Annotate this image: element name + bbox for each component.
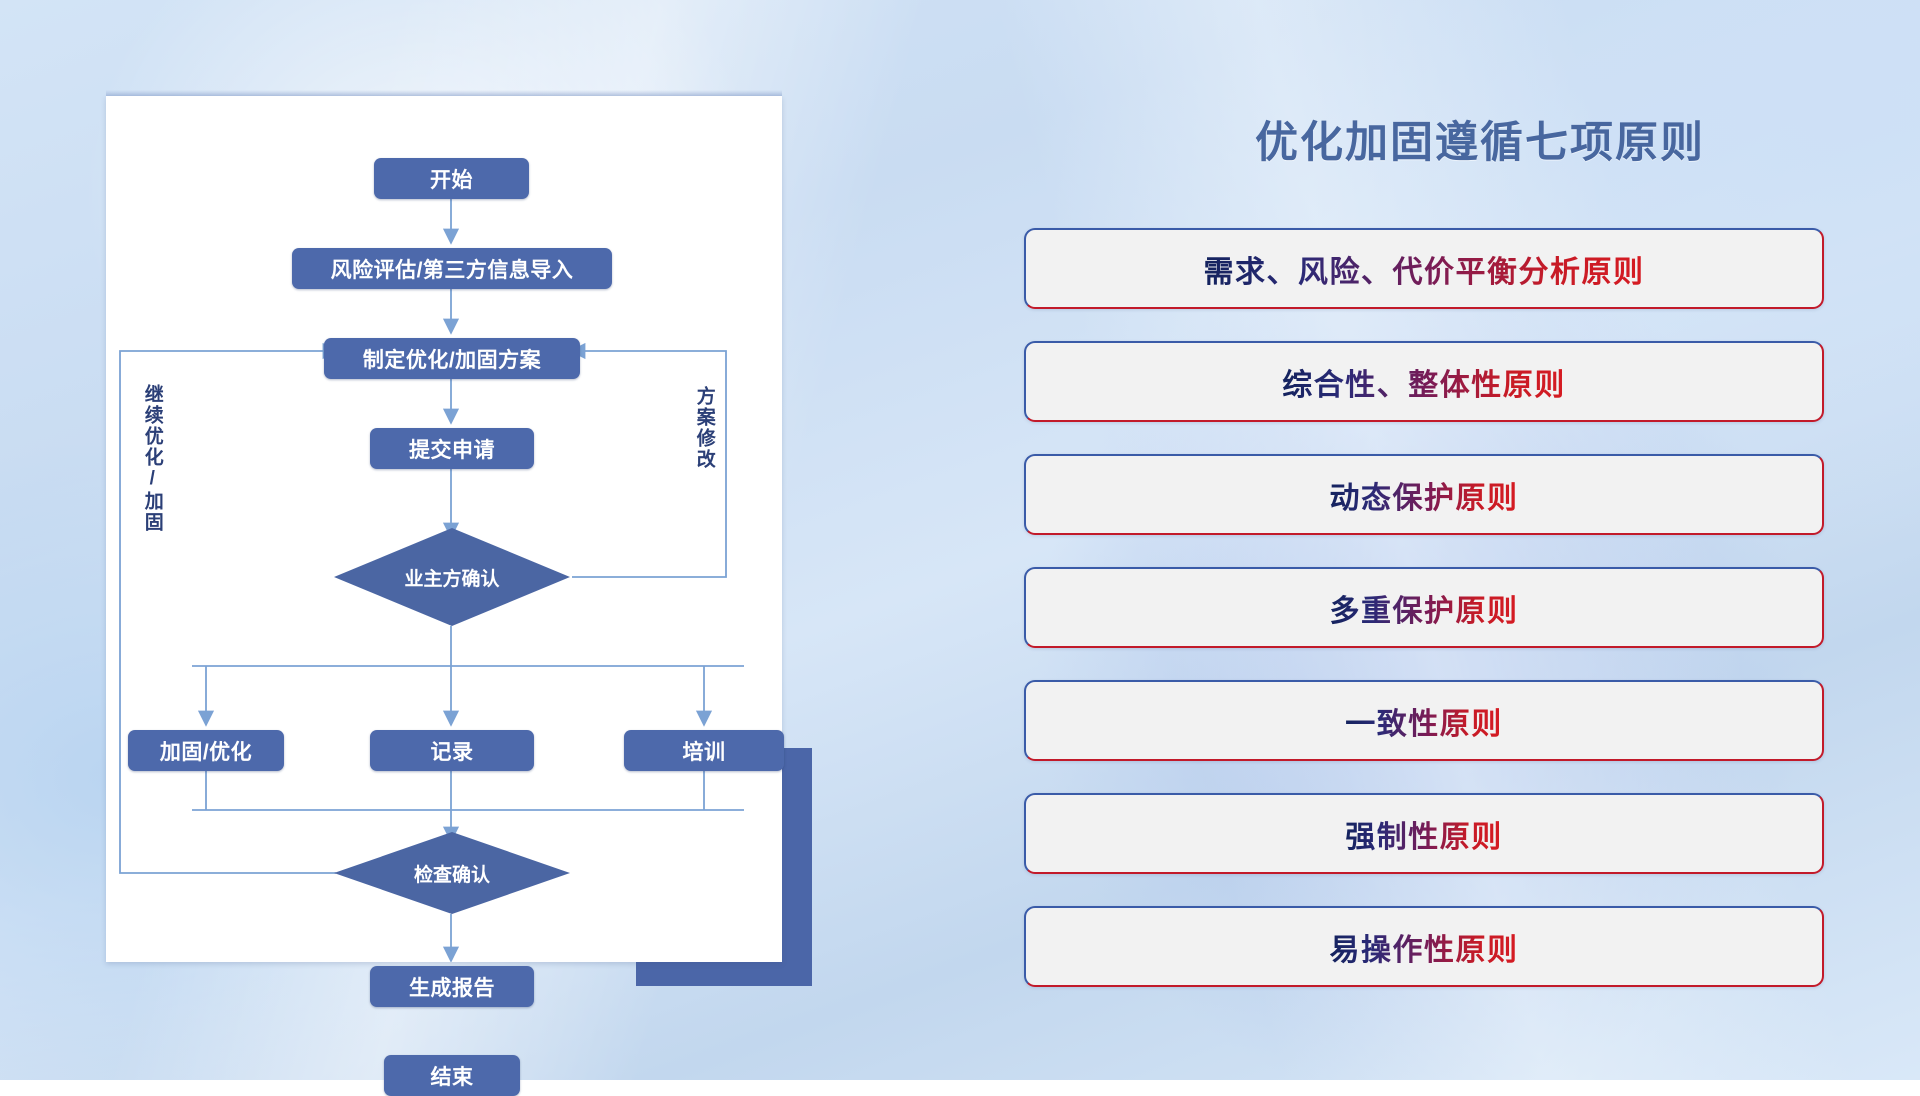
flow-node-label: 风险评估/第三方信息导入 [331, 254, 574, 284]
flow-node-inspection-confirm[interactable]: 检查确认 [334, 832, 570, 914]
flow-node-label: 开始 [430, 164, 473, 194]
flow-node-record[interactable]: 记录 [370, 730, 534, 771]
flow-node-label: 加固/优化 [160, 736, 252, 766]
principle-item[interactable]: 易操作性原则 [1024, 906, 1824, 987]
flow-node-make-plan[interactable]: 制定优化/加固方案 [324, 338, 580, 379]
flow-node-label: 生成报告 [409, 972, 495, 1002]
flow-node-training[interactable]: 培训 [624, 730, 784, 771]
flow-node-label: 检查确认 [414, 860, 490, 887]
panel-title: 优化加固遵循七项原则 [1160, 108, 1800, 170]
principle-item[interactable]: 动态保护原则 [1024, 454, 1824, 535]
principle-label: 易操作性原则 [1330, 925, 1519, 969]
flow-node-label: 记录 [431, 736, 474, 766]
principle-label: 多重保护原则 [1330, 586, 1519, 630]
principle-item[interactable]: 综合性、整体性原则 [1024, 341, 1824, 422]
flow-node-generate-report[interactable]: 生成报告 [370, 966, 534, 1007]
flowchart-card: 开始 风险评估/第三方信息导入 制定优化/加固方案 提交申请 业主方确认 加固/… [106, 96, 782, 962]
principles-list: 需求、风险、代价平衡分析原则 综合性、整体性原则 动态保护原则 多重保护原则 一… [1024, 228, 1824, 1019]
flow-node-reinforce-optimize[interactable]: 加固/优化 [128, 730, 284, 771]
flow-node-label: 提交申请 [409, 434, 495, 464]
flow-node-label: 业主方确认 [404, 564, 499, 591]
principle-label: 需求、风险、代价平衡分析原则 [1204, 247, 1645, 291]
flow-node-label: 培训 [683, 736, 726, 766]
edge-label-continue-optimize: 继续优化/加固 [142, 384, 162, 574]
principles-panel: 优化加固遵循七项原则 需求、风险、代价平衡分析原则 综合性、整体性原则 动态保护… [1010, 0, 1920, 1080]
flow-node-label: 制定优化/加固方案 [363, 344, 541, 374]
edge-label-plan-revision: 方案修改 [694, 386, 714, 516]
principle-item[interactable]: 强制性原则 [1024, 793, 1824, 874]
principle-item[interactable]: 一致性原则 [1024, 680, 1824, 761]
flow-node-owner-confirm[interactable]: 业主方确认 [334, 528, 570, 626]
flow-node-start[interactable]: 开始 [374, 158, 529, 199]
flow-node-submit-application[interactable]: 提交申请 [370, 428, 534, 469]
flow-node-risk-assessment[interactable]: 风险评估/第三方信息导入 [292, 248, 612, 289]
flow-node-label: 结束 [431, 1061, 474, 1091]
principle-label: 一致性原则 [1345, 699, 1503, 743]
principle-item[interactable]: 多重保护原则 [1024, 567, 1824, 648]
flow-node-end[interactable]: 结束 [384, 1055, 520, 1096]
principle-label: 强制性原则 [1345, 812, 1503, 856]
principle-label: 综合性、整体性原则 [1282, 360, 1566, 404]
principle-label: 动态保护原则 [1330, 473, 1519, 517]
principle-item[interactable]: 需求、风险、代价平衡分析原则 [1024, 228, 1824, 309]
